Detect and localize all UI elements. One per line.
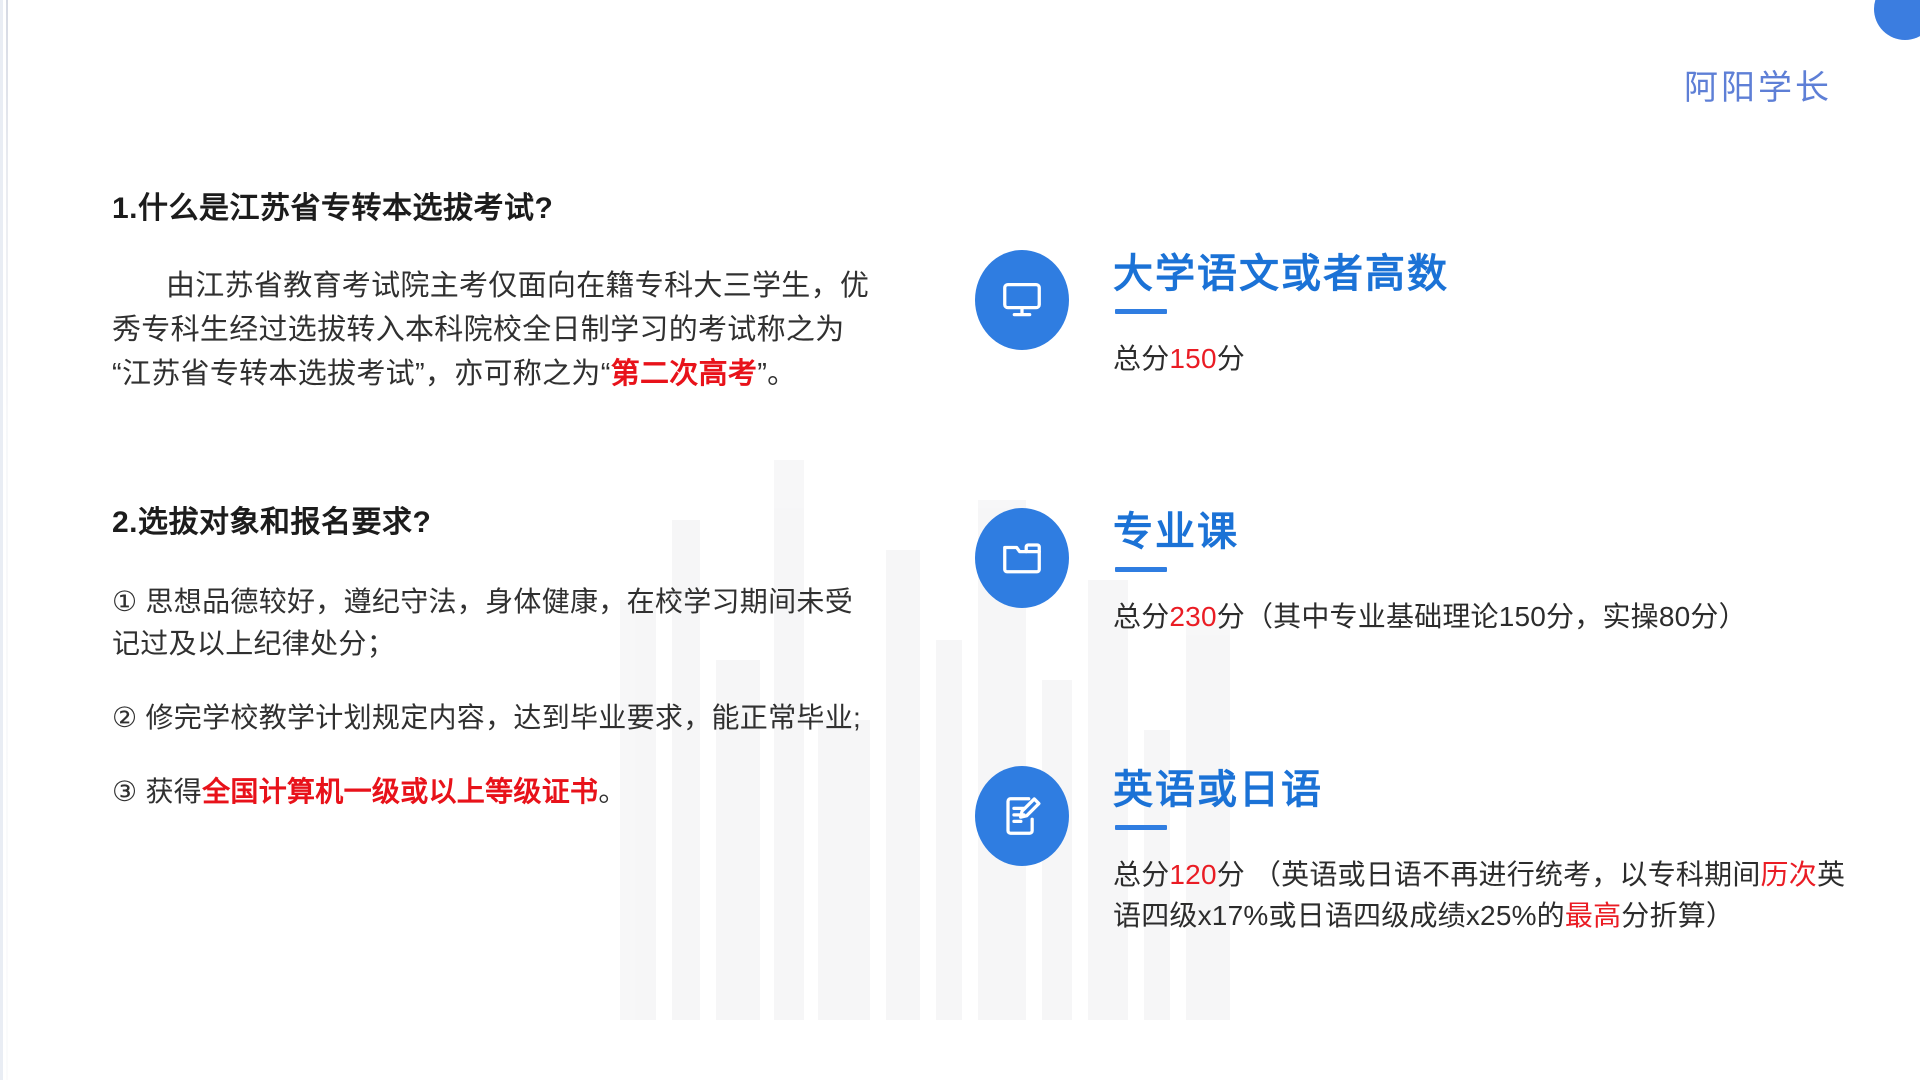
subject-body-3: 英语或日语 总分120分 （英语或日语不再进行统考，以专科期间历次英语四级x17… <box>1113 766 1855 937</box>
requirement-item-1: ① 思想品德较好，遵纪守法，身体健康，在校学习期间未受记过及以上纪律处分； <box>112 581 872 665</box>
requirement-text-2: 修完学校教学计划规定内容，达到毕业要求，能正常毕业; <box>146 702 862 733</box>
item-gap-2 <box>112 739 872 771</box>
section-gap <box>112 396 872 504</box>
subject-title-2: 专业课 <box>1113 510 1855 554</box>
subject-title-3: 英语或日语 <box>1113 768 1855 812</box>
requirement-marker-1: ① <box>112 586 137 617</box>
corner-bubble-decoration <box>1874 0 1920 40</box>
subject-icon-wrapper-1 <box>975 250 1069 350</box>
title-underline-2 <box>1115 567 1167 572</box>
document-edit-icon <box>999 793 1045 839</box>
requirement-tail-3: 。 <box>598 776 626 807</box>
desc-extra-2: （其中专业基础理论150分，实操80分） <box>1245 601 1747 632</box>
frame-left-border <box>0 0 3 1080</box>
desc-pre-3: 总分 <box>1113 859 1169 890</box>
author-watermark: 阿阳学长 <box>1684 60 1832 109</box>
section-2-heading: 2.选拔对象和报名要求? <box>112 504 872 542</box>
requirement-item-2: ② 修完学校教学计划规定内容，达到毕业要求，能正常毕业; <box>112 697 872 739</box>
section-1-body-tail: ”。 <box>757 358 796 390</box>
desc-score-2: 230 <box>1169 601 1216 632</box>
desc-post-2: 分 <box>1217 601 1245 632</box>
requirement-marker-3: ③ <box>112 776 137 807</box>
item-gap-1 <box>112 665 872 697</box>
subject-block-1: 大学语文或者高数 总分150分 <box>975 250 1855 430</box>
desc-post-3: 分 <box>1217 859 1245 890</box>
requirement-marker-2: ② <box>112 702 137 733</box>
subject-desc-1: 总分150分 <box>1113 338 1855 379</box>
subject-block-3: 英语或日语 总分120分 （英语或日语不再进行统考，以专科期间历次英语四级x17… <box>975 766 1855 946</box>
section-1-highlight: 第二次高考 <box>611 358 758 390</box>
left-content-column: 1.什么是江苏省专转本选拔考试? 由江苏省教育考试院主考仅面向在籍专科大三学生，… <box>112 190 872 813</box>
subject-icon-wrapper-3 <box>975 766 1069 866</box>
requirement-text-3: 获得 <box>146 776 203 807</box>
desc-red-term: 最高 <box>1565 900 1621 931</box>
desc-score-1: 150 <box>1169 343 1216 374</box>
desc-score-3: 120 <box>1169 859 1216 890</box>
requirement-item-3: ③ 获得全国计算机一级或以上等级证书。 <box>112 771 872 813</box>
desc-text-run: （英语或日语不再进行统考，以专科期间 <box>1245 859 1761 890</box>
subject-title-1: 大学语文或者高数 <box>1113 252 1855 296</box>
desc-red-term: 历次 <box>1761 859 1817 890</box>
subject-icon-wrapper-2 <box>975 508 1069 608</box>
folder-icon <box>999 535 1045 581</box>
requirement-text-1: 思想品德较好，遵纪守法，身体健康，在校学习期间未受记过及以上纪律处分； <box>112 586 853 659</box>
heading-gap <box>112 541 872 581</box>
desc-pre-2: 总分 <box>1113 601 1169 632</box>
subject-body-1: 大学语文或者高数 总分150分 <box>1113 250 1855 379</box>
right-subjects-column: 大学语文或者高数 总分150分 专业课 <box>975 250 1855 946</box>
section-1-heading: 1.什么是江苏省专转本选拔考试? <box>112 190 872 228</box>
frame-left-accent-line <box>6 0 8 1080</box>
title-underline-3 <box>1115 825 1167 830</box>
desc-text-run: 分折算） <box>1621 900 1734 931</box>
desc-post-1: 分 <box>1217 343 1245 374</box>
desc-pre-1: 总分 <box>1113 343 1169 374</box>
subject-desc-2: 总分230分（其中专业基础理论150分，实操80分） <box>1113 596 1855 637</box>
section-1-body: 由江苏省教育考试院主考仅面向在籍专科大三学生，优秀专科生经过选拔转入本科院校全日… <box>112 264 872 396</box>
slide-canvas: 阿阳学长 1.什么是江苏省专转本选拔考试? 由江苏省教育考试院主考仅面向在籍专科… <box>0 0 1920 1080</box>
monitor-icon <box>999 277 1045 323</box>
subject-body-2: 专业课 总分230分（其中专业基础理论150分，实操80分） <box>1113 508 1855 637</box>
requirement-highlight-3: 全国计算机一级或以上等级证书 <box>202 776 598 807</box>
subject-desc-3: 总分120分 （英语或日语不再进行统考，以专科期间历次英语四级x17%或日语四级… <box>1113 854 1855 937</box>
subject-block-2: 专业课 总分230分（其中专业基础理论150分，实操80分） <box>975 508 1855 688</box>
title-underline-1 <box>1115 309 1167 314</box>
